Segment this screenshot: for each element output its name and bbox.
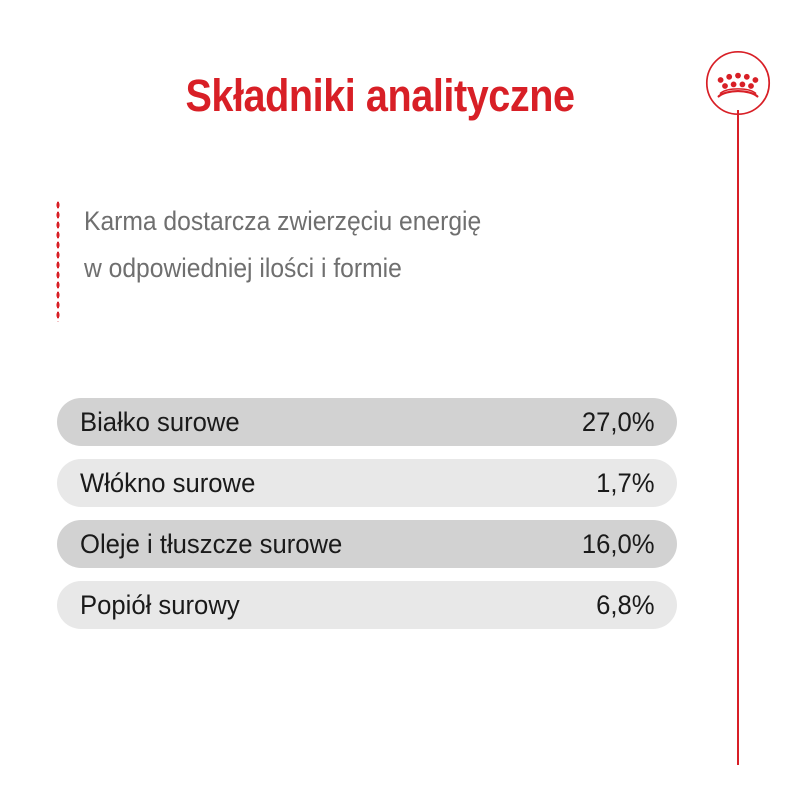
analytical-constituents-card: Składniki analityczne Karma dostarcza zw… <box>0 0 800 800</box>
nutrient-label: Włókno surowe <box>80 468 255 498</box>
dotted-rule-decoration <box>56 200 60 322</box>
nutrient-label: Białko surowe <box>80 407 240 437</box>
royal-canin-crown-logo <box>705 48 771 118</box>
table-row: Popiół surowy 6,8% <box>57 581 677 629</box>
nutrient-value: 27,0% <box>582 407 655 437</box>
table-row: Oleje i tłuszcze surowe 16,0% <box>57 520 677 568</box>
nutrient-value: 16,0% <box>582 529 655 559</box>
nutrient-value: 6,8% <box>597 590 655 620</box>
intro-line-2: w odpowiedniej ilości i formie <box>84 245 481 292</box>
page-title: Składniki analityczne <box>46 68 715 124</box>
table-row: Włókno surowe 1,7% <box>57 459 677 507</box>
nutrient-label: Popiół surowy <box>80 590 240 620</box>
crown-icon <box>705 48 771 118</box>
intro-block: Karma dostarcza zwierzęciu energię w odp… <box>56 198 616 322</box>
logo-stem-line <box>737 110 739 765</box>
nutrient-value: 1,7% <box>597 468 655 498</box>
intro-line-1: Karma dostarcza zwierzęciu energię <box>84 198 481 245</box>
intro-text: Karma dostarcza zwierzęciu energię w odp… <box>84 198 481 292</box>
table-row: Białko surowe 27,0% <box>57 398 677 446</box>
analytical-constituents-table: Białko surowe 27,0% Włókno surowe 1,7% O… <box>57 398 677 642</box>
nutrient-label: Oleje i tłuszcze surowe <box>80 529 342 559</box>
